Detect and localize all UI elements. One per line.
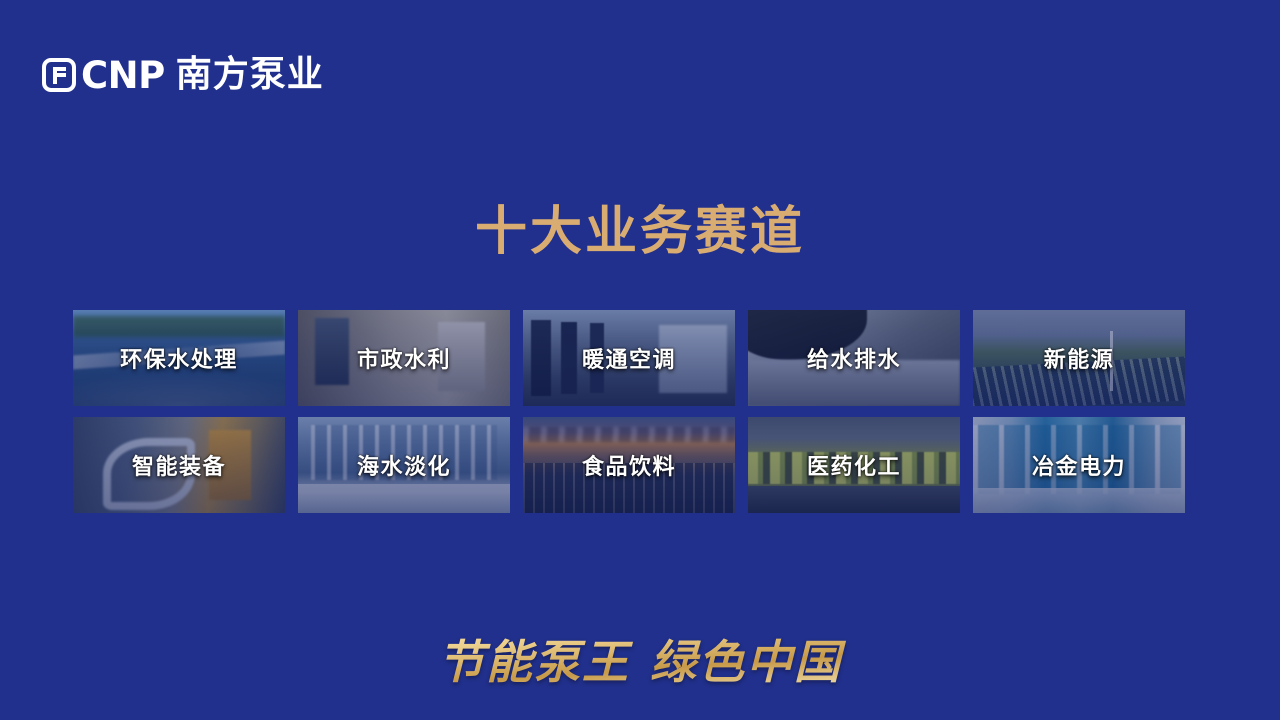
business-track-card[interactable]: 智能装备 — [73, 417, 285, 513]
business-track-label: 食品饮料 — [582, 449, 676, 481]
business-track-label: 给水排水 — [807, 342, 901, 374]
business-track-label: 市政水利 — [357, 342, 451, 374]
business-track-card[interactable]: 给水排水 — [748, 310, 960, 406]
business-track-card[interactable]: 暖通空调 — [523, 310, 735, 406]
brand-logo: CNP 南方泵业 — [42, 53, 324, 97]
business-track-card[interactable]: 医药化工 — [748, 417, 960, 513]
business-track-label: 海水淡化 — [357, 449, 451, 481]
logo-chinese-name: 南方泵业 — [176, 57, 324, 93]
brand-slogan: 节能泵王绿色中国 — [0, 636, 1280, 689]
cnp-rounded-square-logo-icon — [42, 58, 76, 92]
logo-latin-name: CNP — [81, 57, 165, 94]
slogan-part-1: 节能泵王 — [438, 635, 630, 689]
business-track-card[interactable]: 新能源 — [973, 310, 1185, 406]
slide-canvas: CNP 南方泵业 十大业务赛道 环保水处理市政水利暖通空调给水排水新能源智能装备… — [0, 0, 1280, 720]
business-track-label: 暖通空调 — [582, 342, 676, 374]
business-track-card[interactable]: 海水淡化 — [298, 417, 510, 513]
business-track-label: 冶金电力 — [1032, 449, 1126, 481]
business-track-grid: 环保水处理市政水利暖通空调给水排水新能源智能装备海水淡化食品饮料医药化工冶金电力 — [73, 310, 1185, 513]
business-track-card[interactable]: 食品饮料 — [523, 417, 735, 513]
page-title: 十大业务赛道 — [0, 204, 1280, 261]
business-track-card[interactable]: 市政水利 — [298, 310, 510, 406]
business-track-label: 智能装备 — [132, 449, 226, 481]
business-track-label: 环保水处理 — [120, 342, 238, 374]
slogan-part-2: 绿色中国 — [650, 635, 842, 689]
business-track-label: 新能源 — [1044, 342, 1115, 374]
business-track-card[interactable]: 冶金电力 — [973, 417, 1185, 513]
business-track-card[interactable]: 环保水处理 — [73, 310, 285, 406]
business-track-label: 医药化工 — [807, 449, 901, 481]
